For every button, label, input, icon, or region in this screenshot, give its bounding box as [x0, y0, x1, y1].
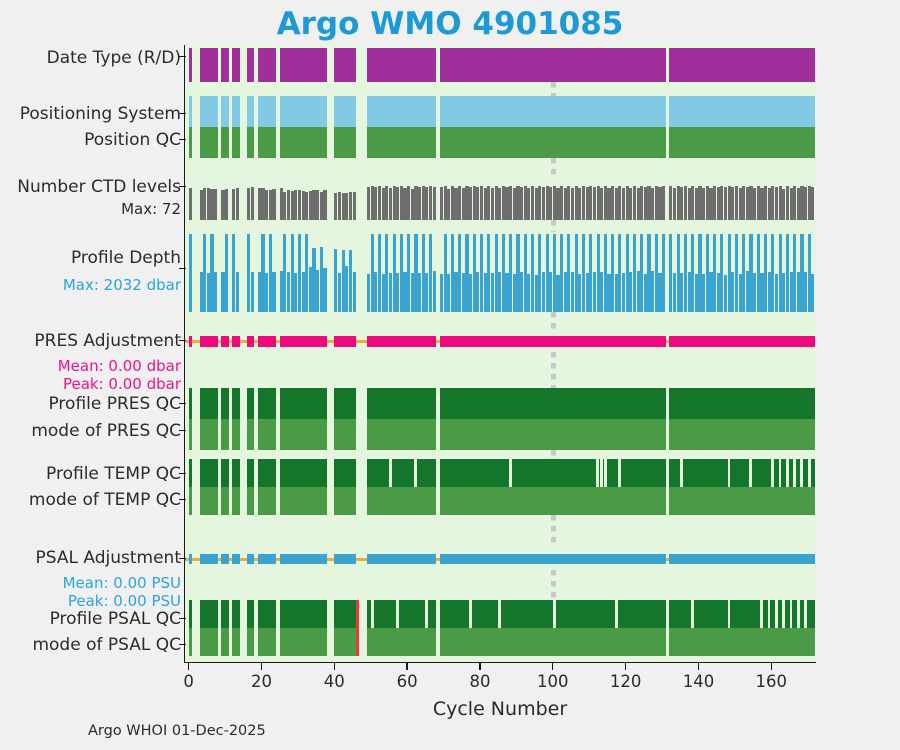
data-bar	[200, 459, 218, 487]
data-bar	[662, 234, 665, 312]
data-bar	[280, 459, 327, 487]
data-bar	[258, 554, 276, 564]
data-bar	[501, 600, 553, 628]
data-bar	[221, 336, 228, 347]
data-bar	[247, 419, 254, 450]
data-bar	[225, 234, 228, 312]
data-bar	[200, 127, 218, 158]
data-bar	[512, 459, 597, 487]
row-label: Profile Depth	[71, 250, 181, 267]
data-bar	[603, 459, 604, 487]
data-bar	[221, 127, 228, 158]
data-bar	[221, 459, 228, 487]
data-bar	[527, 188, 530, 220]
row-label: mode of PSAL QC	[32, 637, 181, 654]
data-bar	[247, 628, 254, 656]
data-bar	[556, 600, 615, 628]
data-bar	[367, 628, 436, 656]
x-tick-label: 0	[183, 672, 194, 691]
data-bar	[367, 600, 371, 628]
data-bar	[225, 189, 228, 220]
data-bar	[669, 336, 815, 347]
data-bar	[527, 274, 530, 312]
data-bar	[411, 273, 414, 312]
data-bar	[247, 600, 254, 628]
data-bar	[258, 127, 276, 158]
data-bar	[334, 487, 356, 515]
data-bar	[323, 268, 326, 312]
data-bar	[440, 487, 666, 515]
data-bar	[730, 459, 749, 487]
row-label: Max: 2032 dbar	[63, 278, 181, 293]
data-bar	[367, 419, 436, 450]
page-title: Argo WMO 4901085	[0, 6, 900, 42]
row-label: Number CTD levels	[17, 179, 181, 196]
data-bar	[200, 419, 218, 450]
data-bar	[440, 388, 666, 419]
data-bar	[353, 192, 356, 220]
data-bar	[334, 419, 356, 450]
data-bar	[280, 127, 327, 158]
data-bar	[334, 127, 356, 158]
data-band	[185, 548, 815, 570]
data-bar	[774, 459, 778, 487]
x-tick-mark	[552, 663, 553, 670]
guide-dotted-line	[551, 450, 556, 459]
data-bar	[232, 628, 239, 656]
data-bar	[214, 272, 217, 312]
data-bar	[200, 600, 218, 628]
data-bar	[189, 628, 193, 656]
data-bar	[763, 600, 767, 628]
data-bar	[258, 336, 276, 347]
data-bar	[698, 234, 701, 312]
data-bar	[334, 600, 356, 628]
data-bar	[200, 336, 218, 347]
data-bar	[280, 388, 327, 419]
data-bar	[785, 600, 789, 628]
data-bar	[807, 600, 815, 628]
data-bar	[236, 272, 239, 312]
data-band	[185, 459, 815, 515]
data-bar	[189, 188, 192, 220]
data-bar	[399, 600, 425, 628]
data-band	[185, 388, 815, 450]
data-bar	[334, 96, 356, 127]
data-bar	[258, 96, 276, 127]
data-bar	[607, 459, 619, 487]
data-bar	[621, 459, 666, 487]
data-bar	[811, 274, 814, 312]
data-bar	[789, 459, 793, 487]
data-bar	[796, 459, 800, 487]
row-label: PRES Adjustment	[34, 333, 181, 350]
data-bar	[792, 600, 796, 628]
data-bar	[669, 127, 815, 158]
row-label: Mean: 0.00 dbar	[58, 359, 181, 374]
data-bar	[221, 96, 228, 127]
data-bar	[232, 459, 239, 487]
data-bar	[258, 459, 276, 487]
data-bar	[669, 388, 815, 419]
x-tick-label: 80	[469, 672, 490, 691]
data-bar	[298, 234, 301, 312]
data-bar	[280, 336, 327, 347]
data-bar	[221, 628, 228, 656]
guide-dotted-line	[551, 82, 556, 96]
data-bar	[417, 459, 436, 487]
data-bar	[730, 600, 760, 628]
data-bar	[232, 554, 239, 564]
data-bar	[367, 554, 436, 564]
data-bar	[669, 459, 680, 487]
data-band	[185, 96, 815, 158]
data-bar	[189, 459, 193, 487]
data-bar	[221, 388, 228, 419]
data-bar	[258, 487, 276, 515]
guide-dotted-line	[551, 158, 556, 176]
data-bar	[778, 600, 782, 628]
data-bar	[334, 388, 356, 419]
x-tick-mark	[406, 663, 407, 670]
data-bar	[200, 554, 218, 564]
row-label: PSAL Adjustment	[36, 550, 181, 567]
row-label: Max: 72	[121, 202, 181, 217]
row-label: Profile TEMP QC	[46, 466, 181, 483]
data-bar	[232, 96, 239, 127]
data-bar	[669, 419, 815, 450]
data-bar	[221, 487, 228, 515]
data-bar	[803, 459, 807, 487]
row-label: Profile PSAL QC	[50, 611, 181, 628]
data-bar	[272, 189, 275, 220]
data-bar	[258, 419, 276, 450]
data-bar	[272, 272, 275, 312]
data-bar	[189, 96, 193, 127]
data-bar	[440, 96, 666, 127]
data-bar	[280, 600, 327, 628]
data-bar	[752, 459, 771, 487]
data-bar	[280, 487, 327, 515]
data-bar	[200, 487, 218, 515]
data-bar	[367, 487, 436, 515]
x-tick-mark	[698, 663, 699, 670]
row-label: Date Type (R/D)	[47, 50, 181, 67]
data-bar	[247, 96, 254, 127]
data-bar	[247, 554, 254, 564]
data-bar	[221, 48, 228, 82]
guide-dotted-line	[551, 312, 556, 330]
data-bar	[334, 554, 356, 564]
data-bar	[698, 186, 701, 220]
guide-dotted-line	[551, 220, 556, 232]
data-bar	[232, 600, 239, 628]
row-label: mode of TEMP QC	[29, 492, 181, 509]
x-tick-label: 120	[610, 672, 642, 691]
data-bar	[367, 48, 436, 82]
data-bar	[669, 48, 815, 82]
data-bar	[367, 459, 389, 487]
data-bar	[440, 127, 666, 158]
x-tick-mark	[188, 663, 189, 670]
data-band	[185, 330, 815, 352]
x-axis-line	[184, 662, 816, 663]
data-bar	[258, 628, 276, 656]
data-bar	[280, 419, 327, 450]
data-band	[185, 600, 815, 656]
data-bar	[221, 554, 228, 564]
guide-dotted-line	[551, 570, 556, 600]
data-bar	[586, 273, 589, 312]
data-bar	[440, 600, 469, 628]
data-bar	[356, 600, 359, 656]
data-bar	[367, 127, 436, 158]
data-bar	[189, 600, 193, 628]
data-bar	[669, 487, 815, 515]
data-bar	[433, 271, 436, 312]
data-bar	[189, 388, 193, 419]
data-bar	[189, 487, 193, 515]
data-bar	[323, 190, 326, 220]
data-bar	[232, 487, 239, 515]
data-bar	[247, 48, 254, 82]
x-axis-title: Cycle Number	[185, 698, 815, 720]
data-bar	[200, 48, 218, 82]
data-bar	[221, 600, 228, 628]
data-bar	[258, 48, 276, 82]
data-bar	[189, 127, 193, 158]
data-bar	[367, 336, 436, 347]
data-bar	[669, 96, 815, 127]
y-tick-mark	[179, 268, 186, 269]
data-bar	[236, 188, 239, 220]
data-bar	[618, 600, 666, 628]
x-tick-label: 100	[537, 672, 569, 691]
data-bar	[258, 388, 276, 419]
data-bar	[440, 336, 666, 347]
x-tick-mark	[625, 663, 626, 670]
data-band	[185, 48, 815, 82]
data-bar	[683, 459, 728, 487]
data-bar	[392, 459, 415, 487]
data-bar	[189, 48, 193, 82]
data-bar	[232, 127, 239, 158]
data-bar	[640, 186, 643, 220]
data-bar	[189, 554, 193, 564]
data-bar	[221, 419, 228, 450]
data-bar	[428, 600, 436, 628]
x-tick-mark	[771, 663, 772, 670]
row-label: Position QC	[84, 132, 181, 149]
data-bar	[433, 187, 436, 220]
data-bar	[367, 388, 436, 419]
data-bar	[669, 554, 815, 564]
x-tick-label: 40	[324, 672, 345, 691]
data-bar	[200, 388, 218, 419]
data-bar	[280, 96, 327, 127]
data-bar	[440, 419, 666, 450]
data-bar	[232, 48, 239, 82]
data-bar	[247, 388, 254, 419]
data-bar	[258, 600, 276, 628]
data-bar	[334, 48, 356, 82]
x-tick-mark	[334, 663, 335, 670]
data-bar	[298, 190, 301, 220]
data-bar	[757, 234, 760, 312]
data-bar	[599, 459, 600, 487]
data-bar	[334, 459, 356, 487]
data-bar	[440, 554, 666, 564]
data-bar	[247, 487, 254, 515]
data-bar	[440, 628, 666, 656]
data-bar	[374, 600, 397, 628]
data-bar	[251, 187, 254, 220]
x-tick-label: 20	[251, 672, 272, 691]
data-bar	[247, 336, 254, 347]
x-tick-label: 60	[397, 672, 418, 691]
data-bar	[800, 600, 804, 628]
row-label: Peak: 0.00 PSU	[68, 594, 181, 609]
data-band	[185, 176, 815, 220]
data-bar	[232, 388, 239, 419]
row-label: Positioning System	[20, 106, 181, 123]
x-tick-label: 160	[756, 672, 788, 691]
data-bar	[662, 186, 665, 220]
data-bar	[200, 96, 218, 127]
row-label: Profile PRES QC	[48, 396, 181, 413]
data-bar	[334, 628, 356, 656]
data-bar	[200, 628, 218, 656]
data-bar	[232, 336, 239, 347]
data-bar	[189, 419, 193, 450]
data-bar	[469, 274, 472, 313]
row-label: Mean: 0.00 PSU	[63, 576, 181, 591]
data-bar	[694, 600, 728, 628]
data-bar	[640, 234, 643, 312]
data-bar	[247, 127, 254, 158]
data-bar	[280, 628, 327, 656]
data-bar	[189, 234, 192, 312]
data-bar	[189, 336, 193, 347]
data-bar	[811, 459, 815, 487]
data-bar	[353, 272, 356, 312]
data-bar	[232, 419, 239, 450]
data-bar	[770, 600, 774, 628]
x-tick-mark	[479, 663, 480, 670]
data-bar	[411, 189, 414, 220]
data-bar	[367, 96, 436, 127]
data-bar	[586, 187, 589, 220]
data-bar	[280, 554, 327, 564]
guide-dotted-line	[551, 352, 556, 388]
data-bar	[472, 600, 498, 628]
data-bar	[811, 187, 814, 220]
data-bar	[247, 459, 254, 487]
data-bar	[440, 48, 666, 82]
data-bar	[781, 459, 785, 487]
x-tick-mark	[261, 663, 262, 670]
data-bar	[440, 459, 509, 487]
x-tick-label: 140	[683, 672, 715, 691]
row-label: Peak: 0.00 dbar	[63, 377, 181, 392]
data-bar	[669, 600, 691, 628]
data-bar	[334, 336, 356, 347]
data-band	[185, 232, 815, 312]
data-bar	[280, 48, 327, 82]
row-label: mode of PRES QC	[31, 423, 181, 440]
data-bar	[251, 272, 254, 312]
data-bar	[757, 186, 760, 220]
footer-credit: Argo WHOI 01-Dec-2025	[88, 723, 266, 739]
data-bar	[469, 187, 472, 220]
data-bar	[214, 189, 217, 220]
data-bar	[669, 628, 815, 656]
guide-dotted-line	[551, 515, 556, 548]
